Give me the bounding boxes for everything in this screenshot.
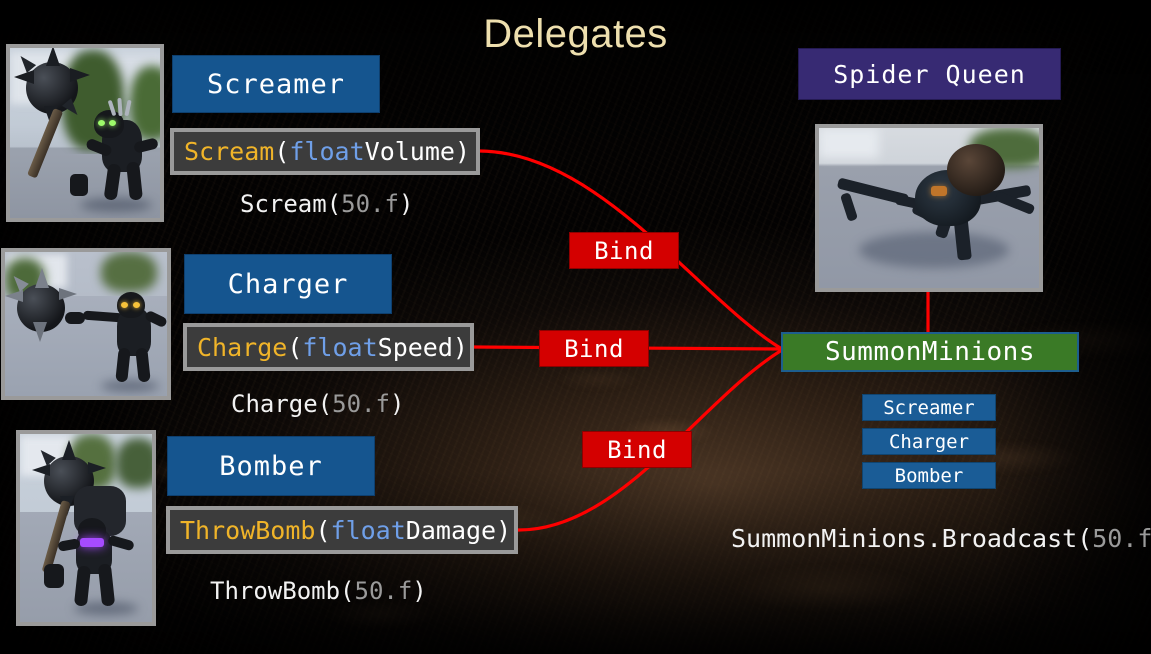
signature-box-charger[interactable]: Charge(float Speed)	[183, 323, 474, 371]
signature-close-paren: )	[496, 516, 511, 545]
bomber-portrait	[16, 430, 156, 626]
call-open-paren: (	[318, 390, 332, 418]
broadcast-open-paren: (	[1077, 524, 1092, 553]
call-close-paren: )	[390, 390, 404, 418]
creature-eye	[98, 120, 105, 126]
call-example-charger: Charge(50.f)	[231, 390, 404, 418]
signature-arg-name: Volume	[365, 137, 455, 166]
signature-type: float	[289, 137, 364, 166]
creature-eye	[109, 120, 116, 126]
drop-shadow	[859, 232, 1009, 268]
delegate-name-label: SummonMinions	[825, 337, 1035, 367]
owner-title-label: Spider Queen	[833, 60, 1026, 89]
mace-spike	[33, 322, 47, 342]
signature-close-paren: )	[453, 333, 468, 362]
bind-badge-charger[interactable]: Bind	[539, 330, 649, 367]
signature-arg-name: Speed	[378, 333, 453, 362]
delegate-box-summonminions[interactable]: SummonMinions	[781, 332, 1079, 372]
creature-eye	[133, 302, 140, 308]
broadcast-function-name: SummonMinions.Broadcast	[731, 524, 1077, 553]
mace-spike	[46, 46, 60, 66]
signature-box-bomber[interactable]: ThrowBomb(float Damage)	[166, 506, 518, 554]
minion-name-bomber[interactable]: Bomber	[167, 436, 375, 496]
mace-spike	[59, 288, 77, 300]
portrait-scene	[819, 128, 1039, 288]
call-example-screamer: Scream(50.f)	[240, 190, 413, 218]
portrait-scene	[20, 434, 152, 622]
mace-grip	[65, 312, 85, 324]
building-shape	[819, 128, 879, 158]
signature-type: float	[302, 333, 377, 362]
slide-canvas: Delegates	[0, 0, 1151, 654]
spider-abdomen	[947, 144, 1005, 196]
call-number: 50.f	[332, 390, 390, 418]
call-number: 50.f	[341, 190, 399, 218]
spider-leg	[840, 192, 858, 222]
signature-type: float	[331, 516, 406, 545]
signature-open-paren: (	[274, 137, 289, 166]
creature-eye	[121, 302, 128, 308]
signature-function-name: ThrowBomb	[180, 516, 315, 545]
portrait-scene	[10, 48, 160, 218]
bind-label: Bind	[594, 237, 654, 265]
bind-label: Bind	[607, 436, 667, 464]
call-close-paren: )	[412, 577, 426, 605]
mace-spike	[35, 268, 49, 288]
call-function-name: ThrowBomb	[210, 577, 340, 605]
mace-spike	[70, 68, 90, 82]
bound-minion-label: Screamer	[883, 397, 975, 419]
spider-queen-portrait	[815, 124, 1043, 292]
charger-portrait	[1, 248, 171, 400]
drop-shadow	[101, 380, 159, 392]
signature-function-name: Scream	[184, 137, 274, 166]
signature-function-name: Charge	[197, 333, 287, 362]
mace-spike	[14, 70, 34, 84]
bind-label: Bind	[564, 335, 624, 363]
screamer-portrait	[6, 44, 164, 222]
minion-name-screamer[interactable]: Screamer	[172, 55, 380, 113]
minion-name-charger[interactable]: Charger	[184, 254, 392, 314]
spider-glow	[931, 186, 947, 196]
call-number: 50.f	[355, 577, 413, 605]
call-example-bomber: ThrowBomb(50.f)	[210, 577, 427, 605]
call-close-paren: )	[399, 190, 413, 218]
bound-minion-label: Charger	[889, 431, 969, 453]
call-function-name: Charge	[231, 390, 318, 418]
call-open-paren: (	[327, 190, 341, 218]
bound-minion-charger[interactable]: Charger	[862, 428, 996, 455]
call-function-name: Scream	[240, 190, 327, 218]
tree-shape	[116, 438, 156, 488]
mace-spike	[5, 290, 23, 302]
mace-spike	[62, 440, 76, 460]
bind-badge-bomber[interactable]: Bind	[582, 431, 692, 468]
minion-name-label: Charger	[228, 269, 349, 300]
bound-minion-bomber[interactable]: Bomber	[862, 462, 996, 489]
bound-minion-screamer[interactable]: Screamer	[862, 394, 996, 421]
minion-name-label: Screamer	[207, 69, 345, 100]
signature-close-paren: )	[455, 137, 470, 166]
broadcast-number: 50.f	[1092, 524, 1151, 553]
minion-name-label: Bomber	[219, 451, 323, 482]
broadcast-call-text: SummonMinions.Broadcast(50.f)	[731, 524, 1151, 553]
owner-title-box[interactable]: Spider Queen	[798, 48, 1061, 100]
signature-open-paren: (	[287, 333, 302, 362]
creature-chest-glow	[80, 538, 104, 547]
mace-spike	[88, 462, 106, 474]
tree-shape	[101, 252, 157, 292]
bound-minion-label: Bomber	[895, 465, 964, 487]
bind-badge-screamer[interactable]: Bind	[569, 232, 679, 269]
mace-spike	[32, 464, 50, 476]
portrait-scene	[5, 252, 167, 396]
mace-grip	[70, 174, 88, 196]
drop-shadow	[80, 198, 152, 212]
call-open-paren: (	[340, 577, 354, 605]
signature-open-paren: (	[315, 516, 330, 545]
mace-grip	[44, 564, 64, 588]
signature-arg-name: Damage	[406, 516, 496, 545]
signature-box-screamer[interactable]: Scream(float Volume)	[170, 128, 480, 175]
